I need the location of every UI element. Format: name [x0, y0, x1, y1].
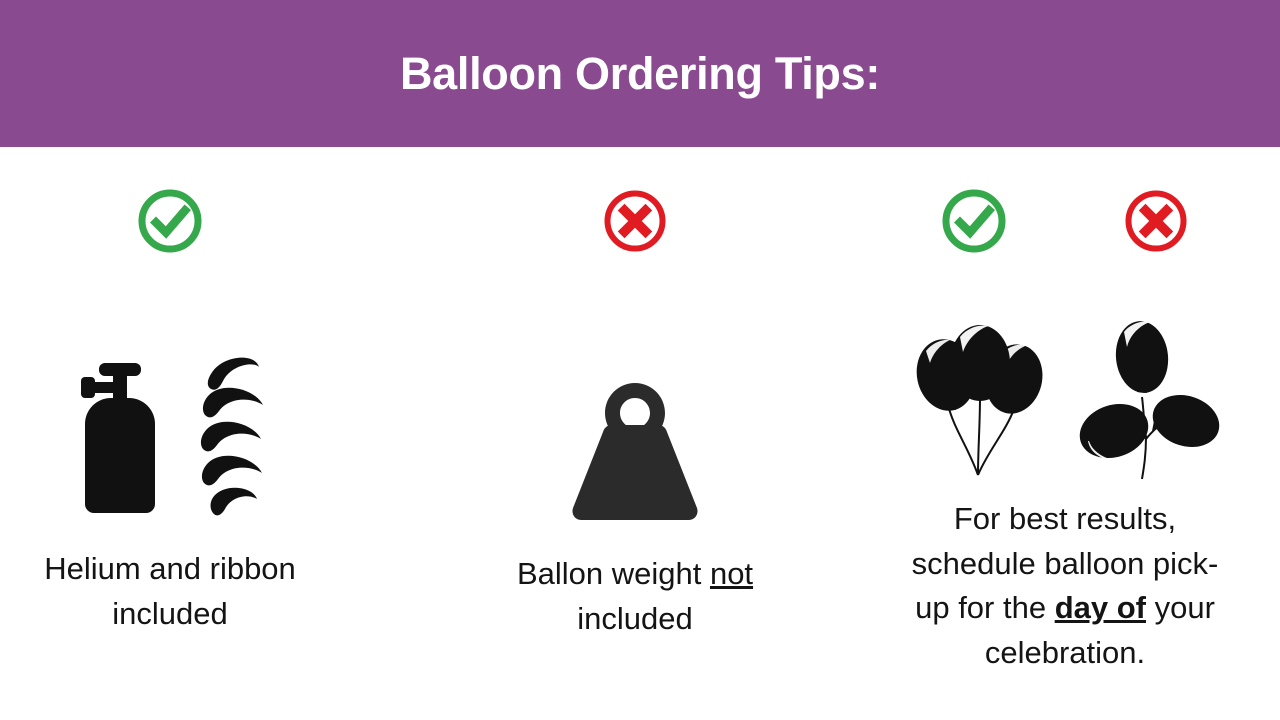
tip-column-pickup-timing: For best results, schedule balloon pick-… — [850, 147, 1280, 676]
tips-columns: Helium and ribbon included — [0, 147, 1280, 720]
art-pickup-balloons — [850, 295, 1280, 483]
balloon-bunch-inflated-icon — [910, 313, 1050, 483]
green-check-circle-icon — [938, 185, 1010, 257]
art-balloon-weight — [440, 295, 830, 530]
curling-ribbon-icon — [193, 347, 271, 525]
caption-line: schedule balloon pick- — [850, 542, 1280, 587]
emphasis-day-of: day of — [1055, 590, 1146, 625]
red-x-circle-icon — [599, 185, 671, 257]
tip-column-helium-ribbon: Helium and ribbon included — [0, 147, 340, 636]
caption-line: Ballon weight not — [440, 552, 830, 597]
balloon-bunch-deflated-icon — [1080, 313, 1220, 483]
caption-line: For best results, — [850, 497, 1280, 542]
caption-line: celebration. — [850, 631, 1280, 676]
red-x-circle-icon — [1120, 185, 1192, 257]
slide-root: Balloon Ordering Tips: — [0, 0, 1280, 720]
tip-column-balloon-weight: Ballon weight not included — [440, 147, 830, 641]
caption-line: included — [440, 597, 830, 642]
green-check-circle-icon — [134, 185, 206, 257]
emphasis-not: not — [710, 556, 753, 591]
helium-tank-icon — [69, 350, 169, 525]
caption-balloon-weight: Ballon weight not included — [440, 552, 830, 641]
caption-line: Helium and ribbon — [0, 547, 340, 592]
status-marks-pickup — [850, 147, 1280, 295]
caption-pickup-timing: For best results, schedule balloon pick-… — [850, 497, 1280, 676]
caption-line: up for the day of your — [850, 586, 1280, 631]
art-helium-ribbon — [0, 295, 340, 525]
page-title: Balloon Ordering Tips: — [400, 51, 880, 96]
status-marks-weight — [440, 147, 830, 295]
balloon-weight-icon — [555, 370, 715, 530]
caption-line: included — [0, 592, 340, 637]
header-band: Balloon Ordering Tips: — [0, 0, 1280, 147]
caption-helium-ribbon: Helium and ribbon included — [0, 547, 340, 636]
status-marks-helium — [0, 147, 340, 295]
